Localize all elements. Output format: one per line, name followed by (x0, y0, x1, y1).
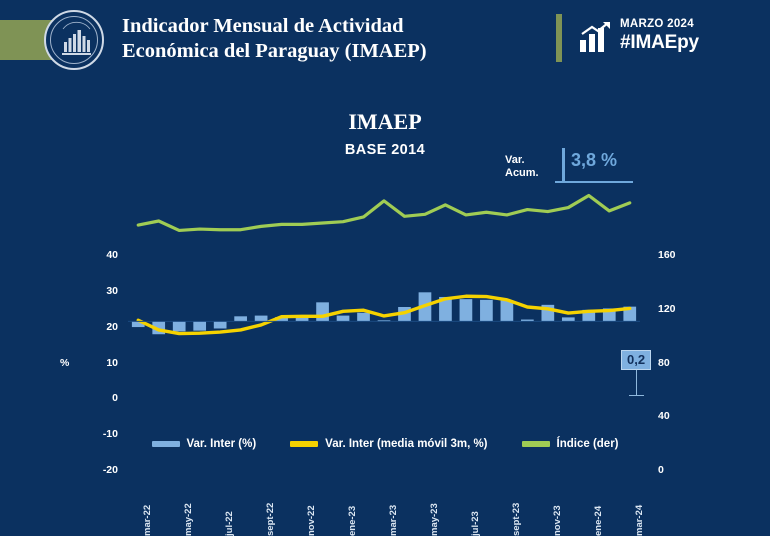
x-axis-tick: sept-22 (265, 503, 276, 536)
left-axis-tick: 20 (78, 321, 118, 333)
left-axis-unit: % (60, 357, 69, 369)
bar (234, 316, 247, 321)
bar (357, 313, 370, 322)
chart-subtitle: BASE 2014 (0, 142, 770, 158)
right-axis-tick: 120 (658, 303, 698, 315)
legend-label-bars: Var. Inter (%) (187, 438, 257, 450)
bar (193, 321, 206, 330)
right-axis-tick: 160 (658, 249, 698, 261)
legend-swatch-bars (152, 441, 180, 447)
legend-swatch-moving-average (290, 441, 318, 447)
seal-building-icon (46, 12, 106, 72)
plot-area (128, 178, 640, 393)
legend-label-moving-average: Var. Inter (media móvil 3m, %) (325, 438, 487, 450)
left-axis-tick: 40 (78, 249, 118, 261)
page-title: Indicador Mensual de Actividad Económica… (122, 14, 522, 64)
report-month: MARZO 2024 (620, 17, 699, 32)
bar (214, 321, 227, 328)
legend-item-moving-average[interactable]: Var. Inter (media móvil 3m, %) (290, 438, 487, 450)
index-line (138, 195, 630, 230)
bcp-seal-logo (44, 10, 104, 70)
legend-item-index[interactable]: Índice (der) (522, 438, 619, 450)
var-acum-value: 3,8 % (571, 150, 617, 171)
x-axis-tick: may-23 (429, 503, 440, 536)
hashtag: #IMAEpy (620, 32, 699, 54)
page-title-line1: Indicador Mensual de Actividad (122, 14, 522, 39)
header-divider (556, 14, 562, 62)
bar (501, 301, 514, 322)
bar (173, 321, 186, 331)
right-axis-tick: 0 (658, 464, 698, 476)
legend-item-bars[interactable]: Var. Inter (%) (152, 438, 257, 450)
legend-swatch-index (522, 441, 550, 447)
x-axis-tick: ene-24 (593, 506, 604, 536)
page-title-line2: Económica del Paraguay (IMAEP) (122, 39, 522, 64)
var-acum-vertical-rule (562, 148, 565, 182)
bar-chart-arrow-icon (578, 22, 612, 54)
right-axis-tick: 40 (658, 410, 698, 422)
left-axis-tick: 30 (78, 285, 118, 297)
header-meta: MARZO 2024 #IMAEpy (620, 17, 699, 54)
right-axis-tick: 80 (658, 357, 698, 369)
legend-label-index: Índice (der) (557, 438, 619, 450)
index-line-group (138, 195, 630, 230)
x-axis-tick: mar-22 (142, 505, 153, 536)
x-axis-tick: may-22 (183, 503, 194, 536)
bar (460, 299, 473, 321)
x-axis-tick: jul-22 (224, 511, 235, 536)
x-axis-tick: nov-22 (306, 505, 317, 536)
left-axis-tick: -20 (78, 464, 118, 476)
bar (337, 316, 350, 322)
page-header: Indicador Mensual de Actividad Económica… (0, 0, 770, 78)
bar (316, 302, 329, 321)
moving-average-line (138, 296, 630, 333)
bar (562, 317, 575, 321)
bar (480, 300, 493, 322)
x-axis-tick: ene-23 (347, 506, 358, 536)
chart-svg (128, 178, 640, 393)
chart-panel: IMAEP BASE 2014 Var. Acum. 3,8 % 0,2 403… (0, 78, 770, 481)
chart-title: IMAEP (0, 109, 770, 135)
left-axis-tick: 0 (78, 392, 118, 404)
x-axis-tick: nov-23 (552, 505, 563, 536)
x-axis-tick: mar-23 (388, 505, 399, 536)
callout-base-tick (629, 395, 644, 396)
bar (255, 316, 268, 322)
var-acum-label: Var. Acum. (505, 154, 539, 180)
x-axis-tick: mar-24 (634, 505, 645, 536)
moving-average-line-group (138, 296, 630, 333)
left-axis-tick: 10 (78, 357, 118, 369)
x-axis-tick: jul-23 (470, 511, 481, 536)
chart-legend: Var. Inter (%) Var. Inter (media móvil 3… (0, 438, 770, 450)
bars-group (132, 292, 636, 334)
x-axis-tick: sept-23 (511, 503, 522, 536)
